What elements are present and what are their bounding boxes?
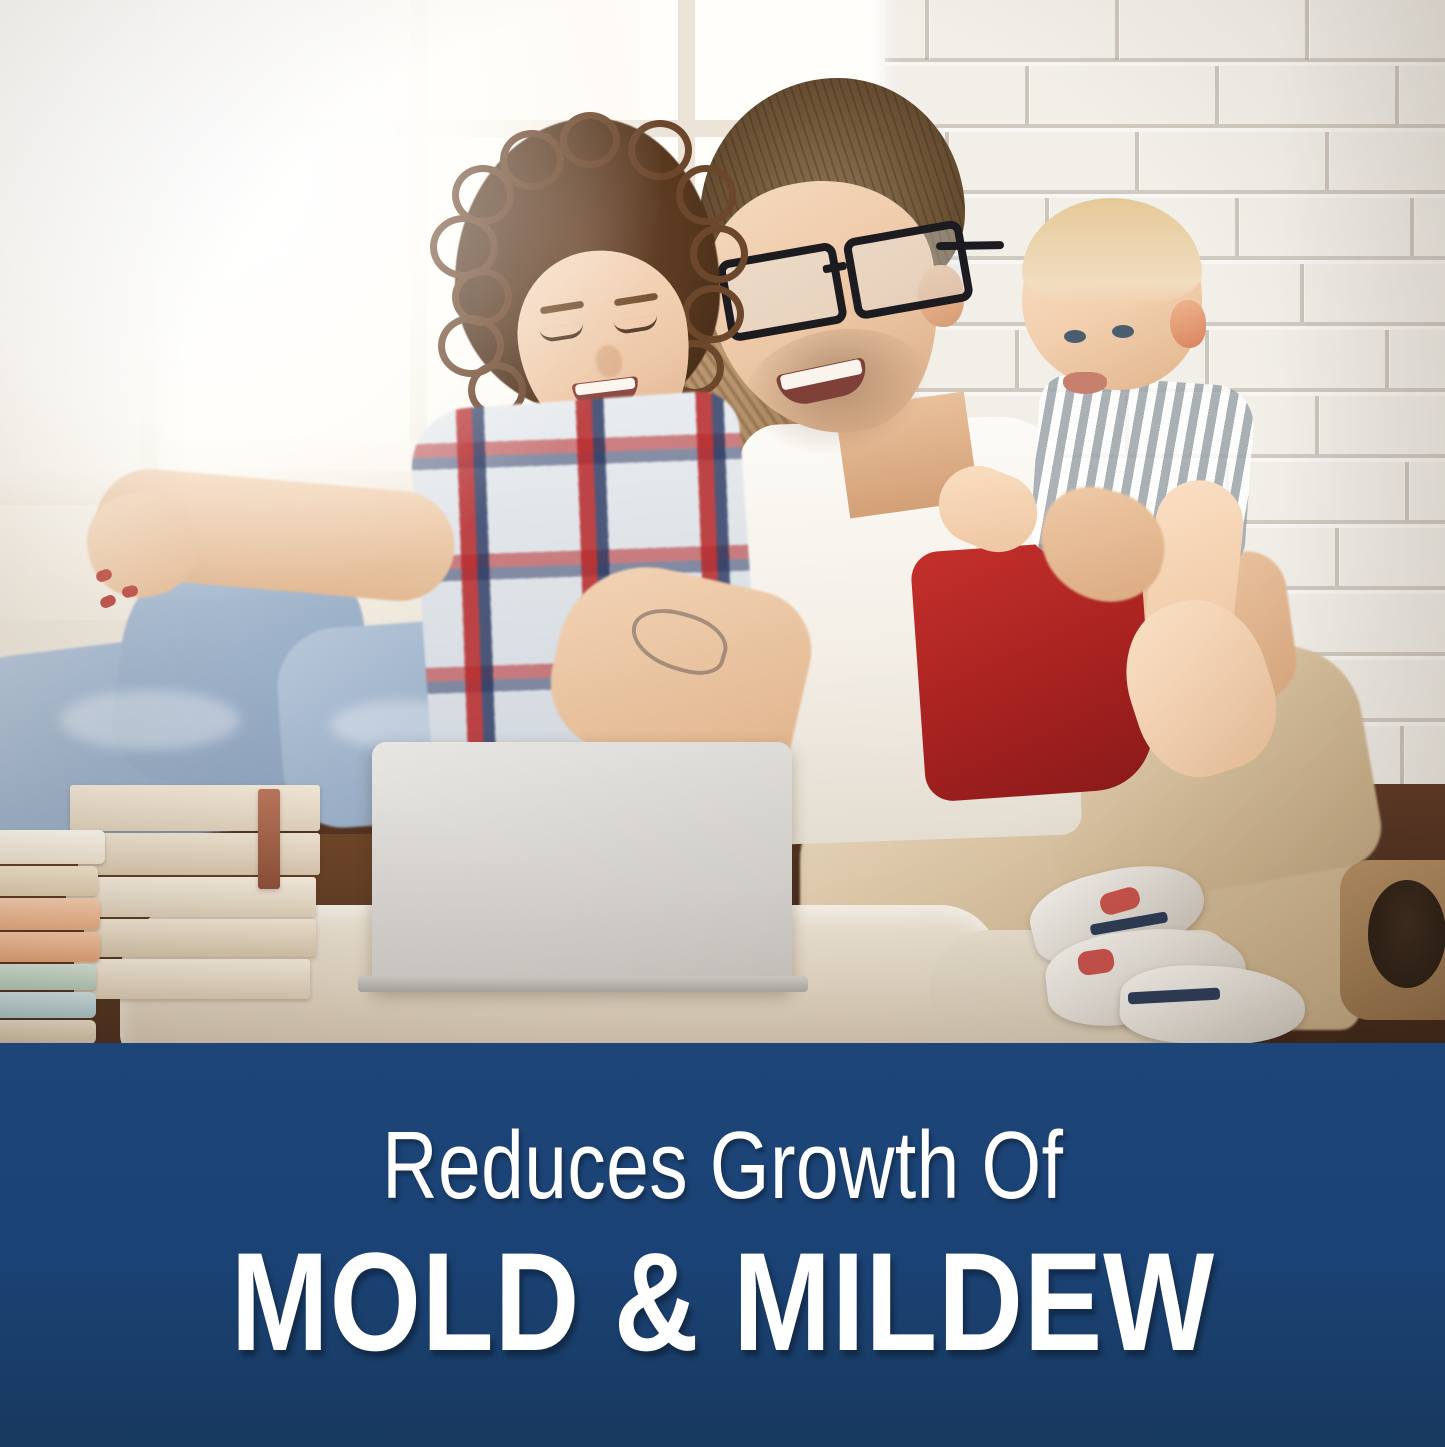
book-stack-front: [0, 800, 320, 1044]
headline-subtitle: Reduces Growth Of: [382, 1118, 1063, 1214]
ad-canvas: Reduces Growth Of MOLD & MILDEW: [0, 0, 1445, 1447]
window-frame: [140, 0, 157, 520]
headline-banner: Reduces Growth Of MOLD & MILDEW: [0, 1043, 1445, 1447]
book: [0, 898, 100, 930]
book: [0, 932, 100, 962]
baby-mouth: [1063, 372, 1107, 394]
window-pane: [428, 0, 678, 120]
boot-opening: [1368, 880, 1445, 988]
book: [0, 866, 98, 896]
window-pane: [170, 0, 410, 120]
book: [0, 1020, 96, 1044]
book: [0, 992, 96, 1018]
jeans-highlight: [60, 690, 240, 750]
baby-eye-left: [1064, 330, 1086, 343]
headline-title: MOLD & MILDEW: [230, 1232, 1214, 1372]
window-mullion: [410, 0, 427, 440]
book: [0, 830, 105, 864]
window-pane: [170, 138, 410, 438]
laptop-base: [358, 976, 808, 992]
laptop-lid: [372, 742, 792, 990]
baby-ear: [1170, 300, 1206, 348]
baby-eye-right: [1112, 325, 1134, 338]
lifestyle-photo: [0, 0, 1445, 1044]
book: [0, 964, 96, 990]
eyeglass-temple: [936, 241, 1004, 250]
